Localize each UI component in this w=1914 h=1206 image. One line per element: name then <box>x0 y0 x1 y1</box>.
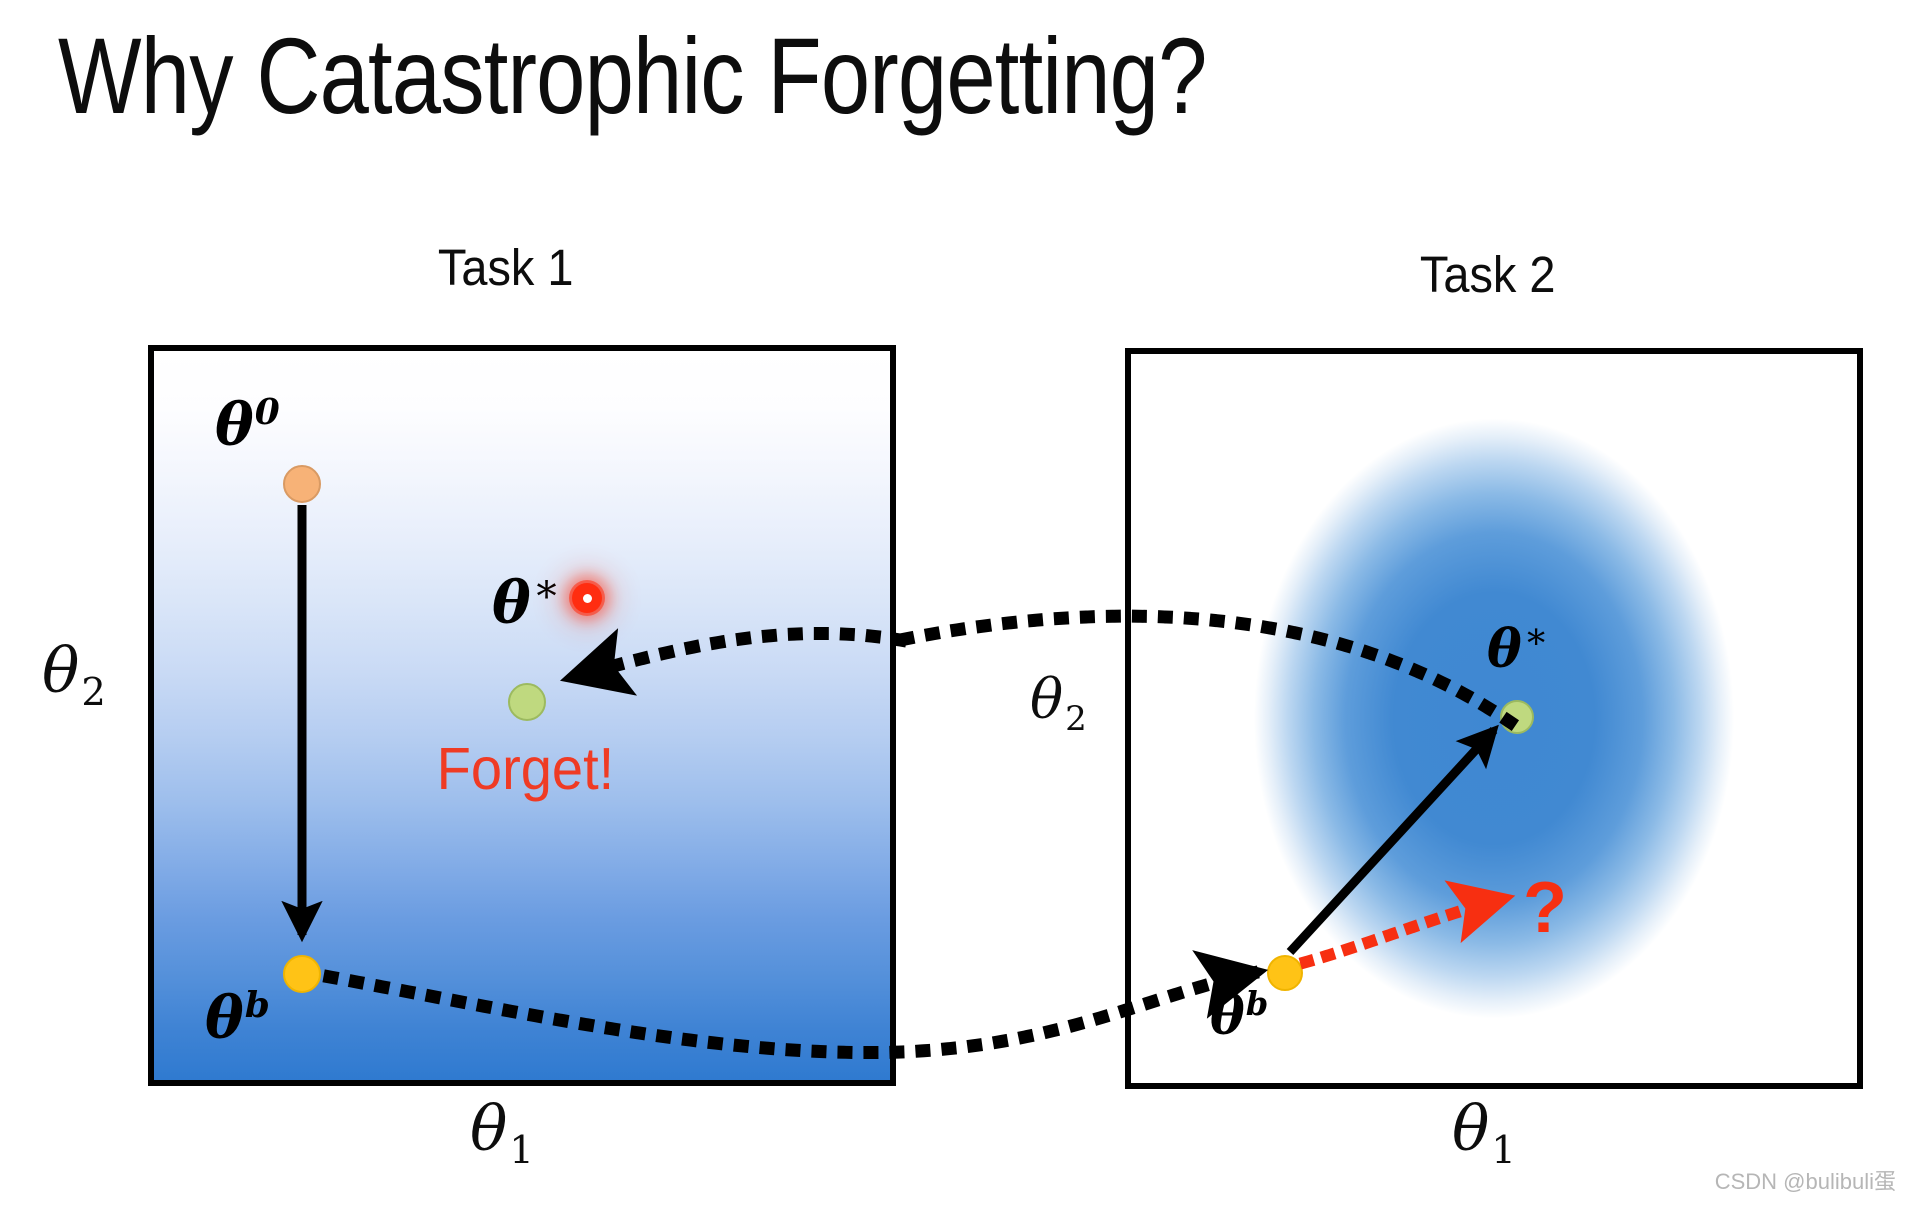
task1-theta-star-superscript: ∗ <box>533 564 561 612</box>
task1-y-axis-symbol: θ <box>42 634 79 707</box>
task2-theta-b-dot <box>1267 955 1303 991</box>
task2-heading: Task 2 <box>1420 245 1556 304</box>
task2-y-axis-label: θ2 <box>1030 672 1087 736</box>
task2-y-axis-symbol: θ <box>1030 667 1063 731</box>
task1-theta-initial-superscript: 0 <box>255 391 280 433</box>
task1-theta-star-dot <box>508 683 546 721</box>
task2-x-axis-symbol: θ <box>1452 1092 1489 1165</box>
task2-panel <box>1125 348 1863 1089</box>
task1-theta-initial-dot <box>283 465 321 503</box>
task1-heading: Task 1 <box>438 238 574 297</box>
task1-theta-b-dot <box>283 955 321 993</box>
task1-y-axis-label: θ2 <box>42 640 106 713</box>
task1-x-axis-subscript: 1 <box>509 1128 533 1173</box>
task1-x-axis-symbol: θ <box>470 1092 507 1165</box>
uncertainty-annotation-text: ? <box>1523 872 1567 944</box>
task2-theta-b-label: θb <box>1210 988 1268 1042</box>
task1-true-optimum-marker <box>572 583 602 613</box>
task1-x-axis-label: θ1 <box>470 1098 534 1171</box>
forget-annotation-text: Forget! <box>437 735 615 803</box>
page-title: Why Catastrophic Forgetting? <box>58 10 1207 142</box>
task1-theta-b-symbol: θ <box>205 983 244 1051</box>
task1-theta-b-label: θb <box>205 988 270 1046</box>
task2-y-axis-subscript: 2 <box>1065 699 1087 739</box>
task1-theta-b-superscript: b <box>245 984 270 1026</box>
task1-theta-initial-symbol: θ <box>215 390 254 458</box>
task1-theta-star-label: θ∗ <box>492 568 560 631</box>
task2-x-axis-subscript: 1 <box>1491 1128 1515 1173</box>
task2-loss-landscape <box>1131 354 1857 1083</box>
task2-theta-b-symbol: θ <box>1210 985 1245 1046</box>
task2-theta-b-superscript: b <box>1246 985 1269 1023</box>
task1-theta-initial-label: θ0 <box>215 395 280 453</box>
task1-y-axis-subscript: 2 <box>81 670 105 715</box>
task2-theta-star-dot <box>1500 700 1534 734</box>
task2-x-axis-label: θ1 <box>1452 1098 1516 1171</box>
slide-canvas: Why Catastrophic Forgetting? Task 1 Task… <box>0 0 1914 1206</box>
task2-theta-star-label: θ∗ <box>1487 618 1548 675</box>
task2-theta-star-symbol: θ <box>1487 618 1522 679</box>
task1-theta-star-symbol: θ <box>492 568 531 636</box>
watermark: CSDN @bulibuli蛋 <box>1715 1164 1896 1196</box>
task2-theta-star-superscript: ∗ <box>1524 614 1549 657</box>
